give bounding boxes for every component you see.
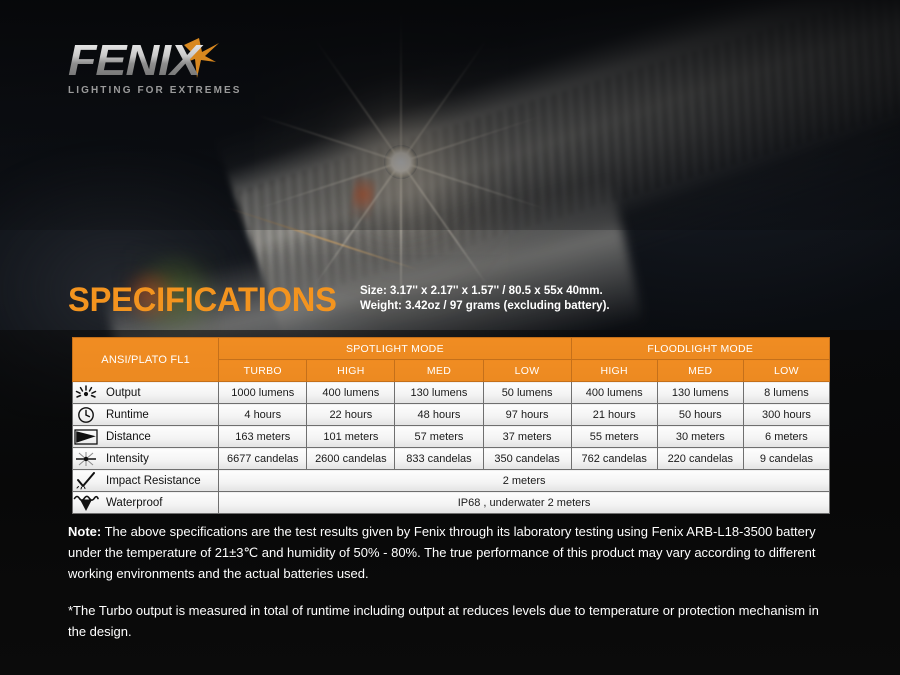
table-row: Output 1000 lumens 400 lumens 130 lumens… (73, 382, 830, 404)
mode-header-spot-med: MED (395, 360, 483, 382)
dimension-summary: Size: 3.17'' x 2.17'' x 1.57'' / 80.5 x … (360, 284, 610, 317)
cell-distance-flood-low: 6 meters (743, 426, 829, 448)
cell-distance-flood-med: 30 meters (657, 426, 743, 448)
mode-header-flood-med: MED (657, 360, 743, 382)
cell-output-spot-turbo: 1000 lumens (219, 382, 307, 404)
intensity-icon (73, 450, 99, 468)
cell-intensity-flood-high: 762 candelas (571, 448, 657, 470)
cell-runtime-flood-med: 50 hours (657, 404, 743, 426)
weight-line: Weight: 3.42oz / 97 grams (excluding bat… (360, 299, 610, 314)
row-label-text: Intensity (106, 453, 149, 465)
cell-impact-resistance-value: 2 meters (219, 470, 830, 492)
cell-intensity-flood-med: 220 candelas (657, 448, 743, 470)
note-label: Note: (68, 524, 101, 539)
cell-distance-flood-high: 55 meters (571, 426, 657, 448)
cell-output-flood-med: 130 lumens (657, 382, 743, 404)
row-label-waterproof: Waterproof (73, 492, 219, 514)
cell-intensity-spot-high: 2600 candelas (307, 448, 395, 470)
table-row: Runtime 4 hours 22 hours 48 hours 97 hou… (73, 404, 830, 426)
cell-runtime-spot-high: 22 hours (307, 404, 395, 426)
row-label-text: Impact Resistance (106, 475, 201, 487)
floodlight-mode-header: FLOODLIGHT MODE (571, 338, 829, 360)
mode-header-spot-turbo: TURBO (219, 360, 307, 382)
beam-distance-icon (73, 428, 99, 446)
row-label-impact-resistance: Impact Resistance (73, 470, 219, 492)
row-label-output: Output (73, 382, 219, 404)
burst-icon (73, 384, 99, 402)
row-label-runtime: Runtime (73, 404, 219, 426)
table-row: Impact Resistance 2 meters (73, 470, 830, 492)
cell-output-flood-low: 8 lumens (743, 382, 829, 404)
cell-intensity-spot-low: 350 candelas (483, 448, 571, 470)
table-row: Waterproof IP68 , underwater 2 meters (73, 492, 830, 514)
top-vignette (0, 0, 900, 230)
table-group-header-row: ANSI/PLATO FL1 SPOTLIGHT MODE FLOODLIGHT… (73, 338, 830, 360)
cell-runtime-spot-low: 97 hours (483, 404, 571, 426)
cell-intensity-spot-turbo: 6677 candelas (219, 448, 307, 470)
cell-distance-spot-med: 57 meters (395, 426, 483, 448)
mode-header-flood-low: LOW (743, 360, 829, 382)
specifications-table: ANSI/PLATO FL1 SPOTLIGHT MODE FLOODLIGHT… (72, 337, 830, 514)
cell-intensity-spot-med: 833 candelas (395, 448, 483, 470)
ansi-plato-header: ANSI/PLATO FL1 (73, 338, 219, 382)
row-label-text: Output (106, 387, 141, 399)
cell-output-spot-low: 50 lumens (483, 382, 571, 404)
waterproof-icon (73, 494, 99, 512)
cell-distance-spot-turbo: 163 meters (219, 426, 307, 448)
row-label-text: Waterproof (106, 497, 162, 509)
cell-distance-spot-high: 101 meters (307, 426, 395, 448)
mode-header-spot-high: HIGH (307, 360, 395, 382)
row-label-intensity: Intensity (73, 448, 219, 470)
fenix-logo: FENIX LIGHTING FOR EXTREMES (68, 40, 268, 96)
size-line: Size: 3.17'' x 2.17'' x 1.57'' / 80.5 x … (360, 284, 610, 299)
row-label-text: Distance (106, 431, 151, 443)
table-row: Intensity 6677 candelas 2600 candelas 83… (73, 448, 830, 470)
mode-header-flood-high: HIGH (571, 360, 657, 382)
page-title: SPECIFICATIONS (68, 283, 337, 317)
cell-distance-spot-low: 37 meters (483, 426, 571, 448)
cell-waterproof-value: IP68 , underwater 2 meters (219, 492, 830, 514)
row-label-distance: Distance (73, 426, 219, 448)
notes-section: Note: The above specifications are the t… (68, 521, 836, 642)
specifications-heading: SPECIFICATIONS Size: 3.17'' x 2.17'' x 1… (68, 283, 610, 317)
cell-output-flood-high: 400 lumens (571, 382, 657, 404)
cell-output-spot-med: 130 lumens (395, 382, 483, 404)
cell-intensity-flood-low: 9 candelas (743, 448, 829, 470)
cell-runtime-flood-low: 300 hours (743, 404, 829, 426)
cell-runtime-flood-high: 21 hours (571, 404, 657, 426)
turbo-note-paragraph: *The Turbo output is measured in total o… (68, 600, 836, 642)
cell-runtime-spot-turbo: 4 hours (219, 404, 307, 426)
mode-header-spot-low: LOW (483, 360, 571, 382)
cell-output-spot-high: 400 lumens (307, 382, 395, 404)
spotlight-mode-header: SPOTLIGHT MODE (219, 338, 571, 360)
impact-resistance-icon (73, 472, 99, 490)
row-label-text: Runtime (106, 409, 149, 421)
logo-tagline: LIGHTING FOR EXTREMES (68, 85, 268, 96)
clock-icon (73, 406, 99, 424)
note-paragraph: Note: The above specifications are the t… (68, 521, 836, 584)
note-body: The above specifications are the test re… (68, 524, 816, 581)
cell-runtime-spot-med: 48 hours (395, 404, 483, 426)
logo-wordmark: FENIX (68, 40, 280, 82)
table-row: Distance 163 meters 101 meters 57 meters… (73, 426, 830, 448)
